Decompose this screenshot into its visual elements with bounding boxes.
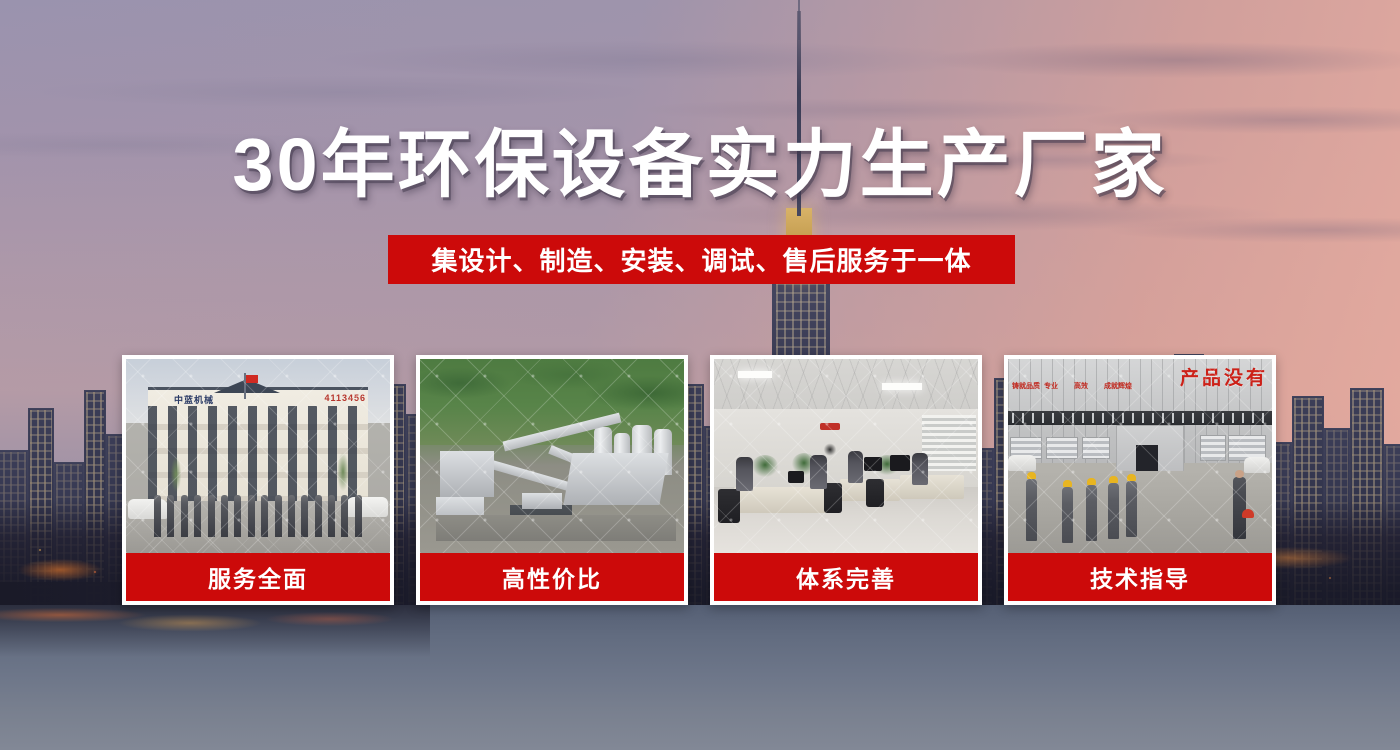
office-interior-staff-at-desks-photo bbox=[714, 359, 978, 553]
feature-card-caption: 技术指导 bbox=[1008, 553, 1272, 601]
subtitle-banner: 集设计、制造、安装、调试、售后服务于一体 bbox=[388, 235, 1015, 284]
factory-sign-text: 产品没有 bbox=[1180, 363, 1268, 390]
subtitle-text: 集设计、制造、安装、调试、售后服务于一体 bbox=[431, 241, 971, 278]
company-office-building-with-staff-photo: 中蓝机械 4113456 bbox=[126, 359, 390, 553]
feature-card-caption: 高性价比 bbox=[420, 553, 684, 601]
page-title: 30年环保设备实力生产厂家 bbox=[0, 128, 1400, 202]
feature-card[interactable]: 中蓝机械 4113456 服务全面 bbox=[122, 355, 394, 605]
building-sign-text: 中蓝机械 bbox=[174, 393, 214, 406]
factory-slogan-2: 专业 bbox=[1044, 383, 1058, 392]
factory-slogan-4: 成就辉煌 bbox=[1104, 383, 1132, 392]
feature-card-row: 中蓝机械 4113456 服务全面 bbox=[122, 355, 1279, 605]
aerial-view-industrial-plant-photo bbox=[420, 359, 684, 553]
tower-spire-tip bbox=[798, 0, 800, 40]
factory-slogan-3: 高效 bbox=[1074, 383, 1088, 392]
feature-card[interactable]: 体系完善 bbox=[710, 355, 982, 605]
feature-card-caption: 体系完善 bbox=[714, 553, 978, 601]
river-water bbox=[0, 605, 1400, 750]
feature-card[interactable]: 产品没有 铸就品质 专业 高效 成就辉煌 bbox=[1004, 355, 1276, 605]
building-phone-text: 4113456 bbox=[324, 393, 366, 403]
feature-card-caption: 服务全面 bbox=[126, 553, 390, 601]
factory-slogan-1: 铸就品质 bbox=[1012, 383, 1040, 392]
workers-in-hardhats-at-factory-photo: 产品没有 铸就品质 专业 高效 成就辉煌 bbox=[1008, 359, 1272, 553]
promo-banner: 30年环保设备实力生产厂家 集设计、制造、安装、调试、售后服务于一体 中蓝机械 … bbox=[0, 0, 1400, 750]
feature-card[interactable]: 高性价比 bbox=[416, 355, 688, 605]
